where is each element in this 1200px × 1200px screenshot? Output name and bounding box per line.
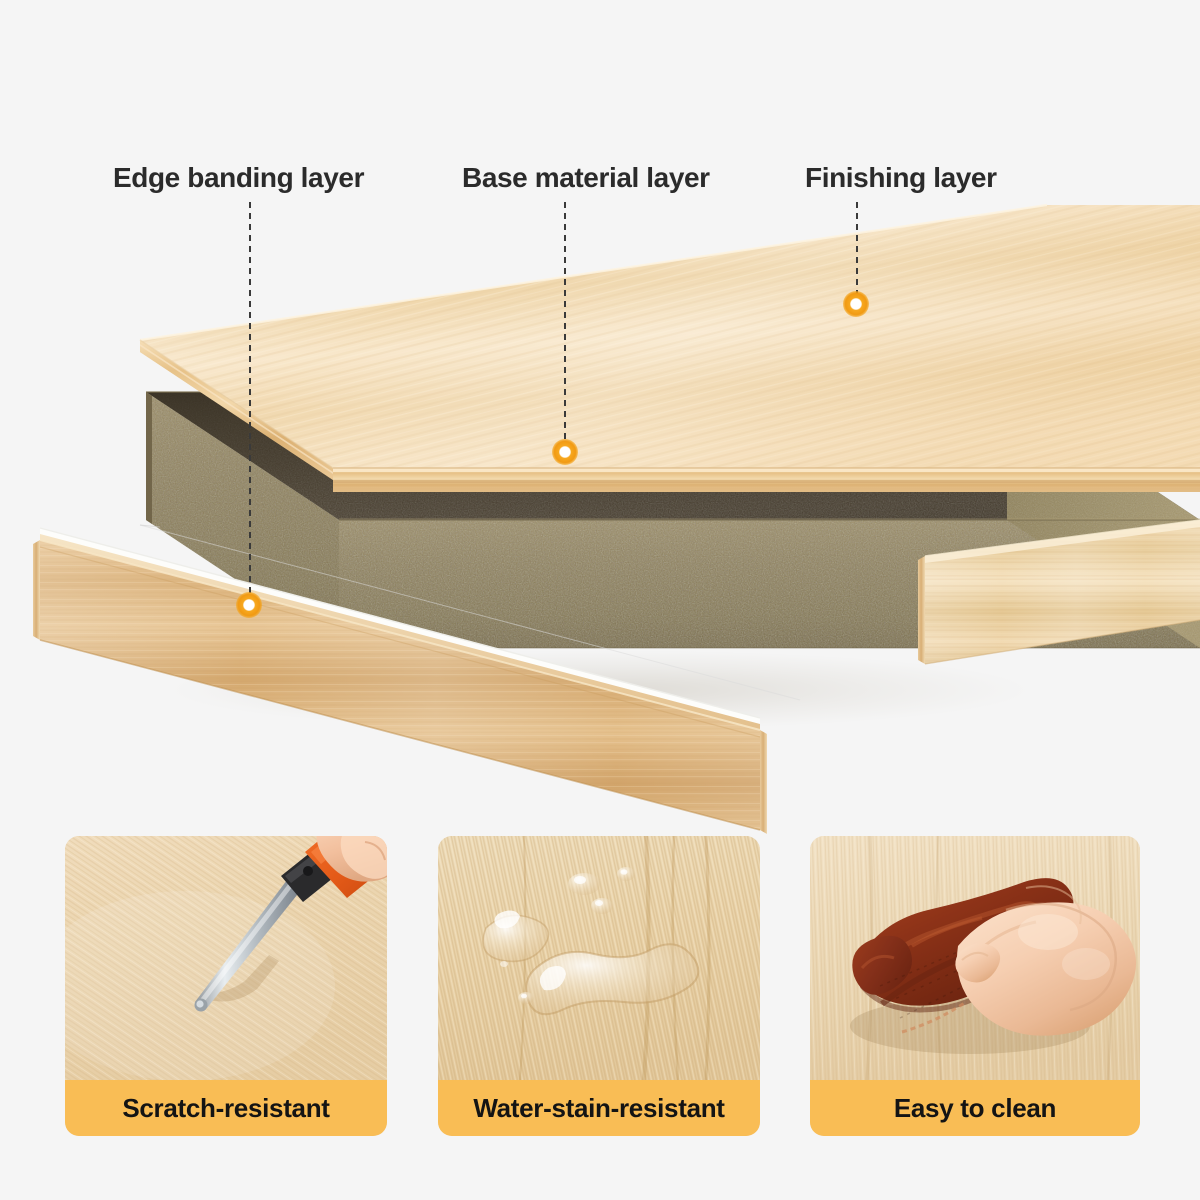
feature-caption-text: Scratch-resistant [122,1093,329,1124]
feature-panel-scratch-resistant: Scratch-resistant [65,836,387,1136]
exploded-board-diagram [0,0,1200,840]
callout-label-base-material: Base material layer [462,162,710,194]
feature-caption-water-stain-resistant: Water-stain-resistant [438,1080,760,1136]
finishing-marker [843,291,869,317]
feature-caption-text: Easy to clean [894,1093,1056,1124]
feature-panel-easy-to-clean: Easy to clean [810,836,1140,1136]
base-material-marker [552,439,578,465]
feature-caption-scratch-resistant: Scratch-resistant [65,1080,387,1136]
callout-label-edge-banding: Edge banding layer [113,162,364,194]
edge-banding-marker [236,592,262,618]
hand-wiping-wood-with-cloth-photo [810,836,1140,1080]
water-droplets-on-wood-photo [438,836,760,1080]
leader-line-base-material [564,202,566,445]
callout-label-finishing: Finishing layer [805,162,997,194]
leader-line-finishing [856,202,858,297]
infographic-canvas: Edge banding layer Base material layer F… [0,0,1200,1200]
screwdriver-scratching-wood-photo [65,836,387,1080]
leader-line-edge-banding [249,202,251,597]
finishing-layer-board [140,205,1200,492]
feature-caption-easy-to-clean: Easy to clean [810,1080,1140,1136]
feature-panel-row: Scratch-resistant [0,836,1200,1146]
feature-caption-text: Water-stain-resistant [473,1093,724,1124]
feature-panel-water-stain-resistant: Water-stain-resistant [438,836,760,1136]
